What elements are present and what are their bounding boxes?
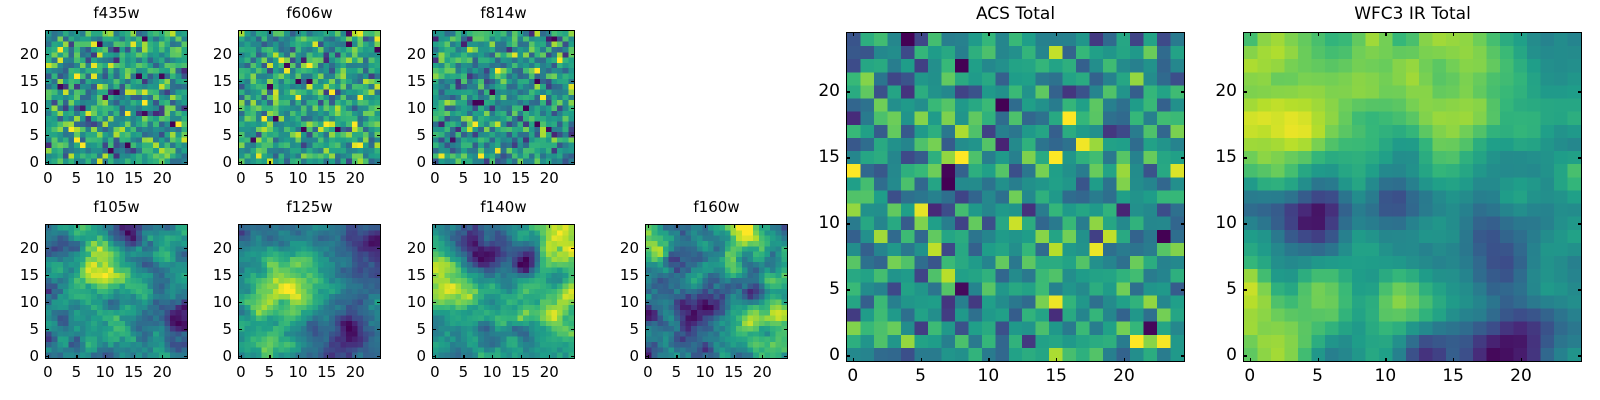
panel-f105w: f105w0510152005101520 — [45, 200, 188, 385]
xtick-mark — [1385, 358, 1386, 362]
ytick-label: 20 — [0, 45, 39, 63]
ytick-mark — [784, 329, 788, 330]
xtick-mark — [241, 224, 242, 228]
ytick-mark — [184, 356, 188, 357]
xtick-label: 5 — [915, 366, 926, 386]
xtick-mark — [105, 224, 106, 228]
xtick-mark — [105, 30, 106, 34]
xtick-mark — [48, 30, 49, 34]
xtick-label: 15 — [1442, 366, 1464, 386]
xtick-mark — [134, 30, 135, 34]
panel-f125w: f125w0510152005101520 — [238, 200, 381, 385]
xtick-mark — [705, 355, 706, 359]
ytick-label: 15 — [800, 147, 840, 167]
ytick-label: 20 — [192, 45, 232, 63]
xtick-mark — [762, 224, 763, 228]
ytick-mark — [184, 108, 188, 109]
ytick-mark — [432, 81, 436, 82]
xtick-mark — [76, 355, 77, 359]
ytick-label: 20 — [599, 239, 639, 257]
xtick-mark — [241, 30, 242, 34]
ytick-mark — [1578, 223, 1582, 224]
ytick-mark — [238, 135, 242, 136]
ytick-label: 15 — [192, 72, 232, 90]
ytick-mark — [1181, 157, 1185, 158]
ytick-mark — [432, 329, 436, 330]
panel-title-f125w: f125w — [238, 200, 381, 215]
xtick-label: 0 — [43, 363, 53, 381]
panel-title-f606w: f606w — [238, 6, 381, 21]
ytick-label: 10 — [1197, 213, 1237, 233]
ytick-mark — [45, 54, 49, 55]
ytick-mark — [432, 302, 436, 303]
xtick-mark — [492, 355, 493, 359]
xtick-mark — [298, 161, 299, 165]
ytick-mark — [846, 223, 850, 224]
heatmap-image-f606w — [239, 31, 380, 164]
ytick-label: 10 — [599, 293, 639, 311]
ytick-label: 20 — [386, 239, 426, 257]
xtick-mark — [1521, 32, 1522, 36]
ytick-mark — [1243, 289, 1247, 290]
heatmap-image-wfc3_ir_total — [1244, 33, 1581, 361]
xtick-mark — [853, 358, 854, 362]
xtick-mark — [492, 161, 493, 165]
xtick-label: 0 — [643, 363, 653, 381]
ytick-label: 0 — [0, 347, 39, 365]
ytick-mark — [1243, 91, 1247, 92]
ytick-mark — [238, 356, 242, 357]
heatmap-image-f160w — [646, 225, 787, 358]
ytick-mark — [571, 356, 575, 357]
ytick-mark — [377, 81, 381, 82]
xtick-label: 10 — [483, 169, 502, 187]
ytick-mark — [571, 135, 575, 136]
panel-f160w: f160w0510152005101520 — [645, 200, 788, 385]
xtick-mark — [648, 224, 649, 228]
ytick-label: 5 — [192, 126, 232, 144]
ytick-mark — [377, 162, 381, 163]
xtick-mark — [105, 161, 106, 165]
xtick-label: 10 — [483, 363, 502, 381]
xtick-mark — [921, 358, 922, 362]
ytick-mark — [571, 81, 575, 82]
xtick-mark — [269, 161, 270, 165]
xtick-mark — [134, 161, 135, 165]
xtick-label: 0 — [847, 366, 858, 386]
ytick-label: 5 — [0, 126, 39, 144]
xtick-mark — [435, 224, 436, 228]
xtick-mark — [269, 355, 270, 359]
ytick-mark — [184, 275, 188, 276]
xtick-mark — [105, 355, 106, 359]
xtick-mark — [734, 224, 735, 228]
xtick-mark — [48, 224, 49, 228]
xtick-mark — [853, 32, 854, 36]
ytick-mark — [45, 162, 49, 163]
ytick-mark — [432, 54, 436, 55]
ytick-mark — [846, 91, 850, 92]
xtick-mark — [327, 224, 328, 228]
xtick-mark — [1521, 358, 1522, 362]
xtick-label: 15 — [1045, 366, 1067, 386]
ytick-mark — [184, 54, 188, 55]
xtick-label: 15 — [124, 363, 143, 381]
xtick-mark — [327, 30, 328, 34]
xtick-mark — [355, 355, 356, 359]
ytick-mark — [432, 162, 436, 163]
xtick-mark — [492, 224, 493, 228]
xtick-label: 5 — [265, 363, 275, 381]
xtick-mark — [988, 32, 989, 36]
heatmap-axes-f105w — [45, 224, 188, 359]
ytick-mark — [45, 356, 49, 357]
heatmap-axes-f125w — [238, 224, 381, 359]
ytick-label: 0 — [192, 153, 232, 171]
xtick-mark — [988, 358, 989, 362]
xtick-label: 10 — [96, 169, 115, 187]
ytick-mark — [238, 81, 242, 82]
ytick-label: 10 — [386, 99, 426, 117]
ytick-mark — [45, 81, 49, 82]
heatmap-axes-acs_total — [846, 32, 1185, 362]
xtick-label: 0 — [1244, 366, 1255, 386]
xtick-label: 10 — [978, 366, 1000, 386]
ytick-mark — [377, 135, 381, 136]
xtick-mark — [463, 30, 464, 34]
ytick-label: 15 — [0, 72, 39, 90]
xtick-mark — [762, 355, 763, 359]
ytick-mark — [377, 356, 381, 357]
ytick-label: 0 — [192, 347, 232, 365]
ytick-mark — [1181, 355, 1185, 356]
ytick-label: 10 — [386, 293, 426, 311]
ytick-label: 5 — [386, 126, 426, 144]
xtick-label: 5 — [265, 169, 275, 187]
ytick-mark — [184, 329, 188, 330]
xtick-mark — [355, 161, 356, 165]
heatmap-image-f140w — [433, 225, 574, 358]
ytick-label: 0 — [0, 153, 39, 171]
ytick-label: 0 — [599, 347, 639, 365]
ytick-mark — [571, 162, 575, 163]
ytick-mark — [45, 275, 49, 276]
xtick-mark — [1453, 358, 1454, 362]
xtick-label: 0 — [236, 363, 246, 381]
xtick-label: 10 — [1375, 366, 1397, 386]
xtick-label: 20 — [346, 169, 365, 187]
ytick-label: 5 — [192, 320, 232, 338]
xtick-mark — [1056, 32, 1057, 36]
heatmap-axes-f435w — [45, 30, 188, 165]
ytick-mark — [645, 356, 649, 357]
xtick-mark — [1385, 32, 1386, 36]
ytick-mark — [238, 108, 242, 109]
xtick-mark — [162, 161, 163, 165]
ytick-mark — [432, 108, 436, 109]
ytick-mark — [184, 135, 188, 136]
xtick-mark — [1318, 32, 1319, 36]
heatmap-image-f814w — [433, 31, 574, 164]
panel-title-wfc3_ir_total: WFC3 IR Total — [1243, 6, 1582, 23]
ytick-mark — [571, 329, 575, 330]
heatmap-image-acs_total — [847, 33, 1184, 361]
xtick-mark — [521, 355, 522, 359]
xtick-mark — [463, 224, 464, 228]
ytick-mark — [45, 302, 49, 303]
ytick-mark — [238, 302, 242, 303]
ytick-mark — [1181, 289, 1185, 290]
ytick-mark — [1181, 91, 1185, 92]
panel-title-f160w: f160w — [645, 200, 788, 215]
figure-canvas: f435w0510152005101520f606w05101520051015… — [0, 0, 1600, 400]
panel-title-f140w: f140w — [432, 200, 575, 215]
heatmap-image-f105w — [46, 225, 187, 358]
ytick-mark — [1578, 91, 1582, 92]
xtick-mark — [269, 224, 270, 228]
ytick-label: 10 — [800, 213, 840, 233]
ytick-mark — [238, 162, 242, 163]
ytick-label: 5 — [386, 320, 426, 338]
xtick-mark — [705, 224, 706, 228]
panel-f606w: f606w0510152005101520 — [238, 6, 381, 191]
heatmap-axes-f606w — [238, 30, 381, 165]
ytick-label: 0 — [386, 153, 426, 171]
ytick-mark — [45, 108, 49, 109]
panel-acs_total: ACS Total0510152005101520 — [846, 6, 1185, 388]
ytick-mark — [238, 54, 242, 55]
xtick-mark — [521, 161, 522, 165]
ytick-label: 0 — [386, 347, 426, 365]
xtick-mark — [549, 30, 550, 34]
xtick-label: 5 — [1312, 366, 1323, 386]
xtick-mark — [162, 224, 163, 228]
ytick-mark — [571, 275, 575, 276]
xtick-label: 5 — [459, 363, 469, 381]
xtick-label: 20 — [540, 363, 559, 381]
ytick-label: 20 — [192, 239, 232, 257]
ytick-mark — [571, 108, 575, 109]
xtick-mark — [521, 30, 522, 34]
xtick-label: 15 — [724, 363, 743, 381]
ytick-label: 10 — [0, 99, 39, 117]
ytick-label: 5 — [1197, 279, 1237, 299]
ytick-mark — [238, 248, 242, 249]
xtick-mark — [298, 30, 299, 34]
ytick-mark — [645, 329, 649, 330]
ytick-mark — [1243, 223, 1247, 224]
ytick-mark — [238, 275, 242, 276]
ytick-mark — [377, 275, 381, 276]
xtick-mark — [162, 355, 163, 359]
ytick-mark — [184, 248, 188, 249]
ytick-mark — [1243, 355, 1247, 356]
xtick-label: 20 — [1113, 366, 1135, 386]
ytick-mark — [432, 135, 436, 136]
xtick-mark — [162, 30, 163, 34]
xtick-mark — [269, 30, 270, 34]
xtick-label: 5 — [672, 363, 682, 381]
xtick-mark — [76, 161, 77, 165]
ytick-label: 10 — [192, 293, 232, 311]
xtick-mark — [1453, 32, 1454, 36]
panel-title-f105w: f105w — [45, 200, 188, 215]
xtick-label: 0 — [43, 169, 53, 187]
xtick-label: 5 — [459, 169, 469, 187]
panel-wfc3_ir_total: WFC3 IR Total0510152005101520 — [1243, 6, 1582, 388]
ytick-mark — [45, 329, 49, 330]
xtick-label: 15 — [124, 169, 143, 187]
xtick-mark — [298, 224, 299, 228]
ytick-mark — [1243, 157, 1247, 158]
ytick-label: 15 — [0, 266, 39, 284]
xtick-mark — [549, 161, 550, 165]
xtick-mark — [549, 355, 550, 359]
xtick-mark — [1056, 358, 1057, 362]
xtick-mark — [298, 355, 299, 359]
xtick-label: 20 — [1510, 366, 1532, 386]
xtick-mark — [492, 30, 493, 34]
ytick-mark — [432, 275, 436, 276]
ytick-mark — [432, 248, 436, 249]
heatmap-image-f435w — [46, 31, 187, 164]
ytick-label: 5 — [0, 320, 39, 338]
xtick-mark — [1124, 358, 1125, 362]
ytick-label: 5 — [599, 320, 639, 338]
xtick-mark — [1318, 358, 1319, 362]
xtick-label: 10 — [696, 363, 715, 381]
xtick-label: 20 — [540, 169, 559, 187]
xtick-label: 5 — [72, 169, 82, 187]
ytick-label: 20 — [0, 239, 39, 257]
ytick-mark — [1181, 223, 1185, 224]
xtick-mark — [134, 224, 135, 228]
xtick-label: 0 — [430, 363, 440, 381]
xtick-label: 15 — [317, 363, 336, 381]
xtick-mark — [921, 32, 922, 36]
xtick-mark — [76, 224, 77, 228]
ytick-mark — [571, 54, 575, 55]
ytick-mark — [184, 81, 188, 82]
ytick-mark — [432, 356, 436, 357]
xtick-label: 20 — [153, 169, 172, 187]
xtick-label: 10 — [289, 169, 308, 187]
xtick-label: 20 — [153, 363, 172, 381]
ytick-mark — [377, 248, 381, 249]
ytick-mark — [645, 275, 649, 276]
ytick-mark — [1578, 355, 1582, 356]
ytick-mark — [784, 248, 788, 249]
xtick-mark — [1124, 32, 1125, 36]
panel-title-f814w: f814w — [432, 6, 575, 21]
ytick-label: 5 — [800, 279, 840, 299]
ytick-label: 0 — [1197, 345, 1237, 365]
xtick-label: 10 — [96, 363, 115, 381]
ytick-mark — [1578, 289, 1582, 290]
xtick-mark — [521, 224, 522, 228]
ytick-mark — [784, 302, 788, 303]
xtick-mark — [435, 30, 436, 34]
ytick-mark — [784, 275, 788, 276]
ytick-mark — [846, 157, 850, 158]
ytick-mark — [645, 248, 649, 249]
xtick-label: 15 — [317, 169, 336, 187]
xtick-mark — [1250, 358, 1251, 362]
xtick-mark — [1250, 32, 1251, 36]
ytick-mark — [1578, 157, 1582, 158]
ytick-label: 10 — [192, 99, 232, 117]
ytick-mark — [377, 329, 381, 330]
ytick-label: 15 — [386, 266, 426, 284]
ytick-mark — [377, 54, 381, 55]
xtick-mark — [355, 30, 356, 34]
xtick-label: 0 — [236, 169, 246, 187]
ytick-mark — [645, 302, 649, 303]
xtick-label: 15 — [511, 363, 530, 381]
ytick-mark — [45, 135, 49, 136]
heatmap-axes-f160w — [645, 224, 788, 359]
ytick-mark — [784, 356, 788, 357]
ytick-label: 15 — [386, 72, 426, 90]
xtick-mark — [463, 161, 464, 165]
ytick-label: 20 — [1197, 81, 1237, 101]
xtick-label: 0 — [430, 169, 440, 187]
ytick-label: 20 — [386, 45, 426, 63]
xtick-mark — [676, 224, 677, 228]
ytick-mark — [45, 248, 49, 249]
xtick-mark — [76, 30, 77, 34]
panel-title-f435w: f435w — [45, 6, 188, 21]
ytick-label: 15 — [192, 266, 232, 284]
ytick-mark — [846, 355, 850, 356]
ytick-mark — [184, 302, 188, 303]
xtick-label: 15 — [511, 169, 530, 187]
xtick-mark — [327, 161, 328, 165]
xtick-mark — [463, 355, 464, 359]
ytick-label: 0 — [800, 345, 840, 365]
heatmap-image-f125w — [239, 225, 380, 358]
xtick-mark — [327, 355, 328, 359]
xtick-mark — [676, 355, 677, 359]
xtick-label: 20 — [346, 363, 365, 381]
xtick-mark — [734, 355, 735, 359]
ytick-mark — [377, 108, 381, 109]
panel-title-acs_total: ACS Total — [846, 6, 1185, 23]
ytick-label: 15 — [1197, 147, 1237, 167]
panel-f814w: f814w0510152005101520 — [432, 6, 575, 191]
panel-f140w: f140w0510152005101520 — [432, 200, 575, 385]
xtick-label: 10 — [289, 363, 308, 381]
ytick-mark — [571, 302, 575, 303]
xtick-label: 5 — [72, 363, 82, 381]
heatmap-axes-wfc3_ir_total — [1243, 32, 1582, 362]
heatmap-axes-f814w — [432, 30, 575, 165]
xtick-mark — [134, 355, 135, 359]
ytick-mark — [377, 302, 381, 303]
ytick-mark — [238, 329, 242, 330]
ytick-mark — [846, 289, 850, 290]
xtick-mark — [355, 224, 356, 228]
ytick-label: 10 — [0, 293, 39, 311]
ytick-mark — [184, 162, 188, 163]
ytick-mark — [571, 248, 575, 249]
ytick-label: 20 — [800, 81, 840, 101]
ytick-label: 15 — [599, 266, 639, 284]
panel-f435w: f435w0510152005101520 — [45, 6, 188, 191]
xtick-mark — [549, 224, 550, 228]
heatmap-axes-f140w — [432, 224, 575, 359]
xtick-label: 20 — [753, 363, 772, 381]
